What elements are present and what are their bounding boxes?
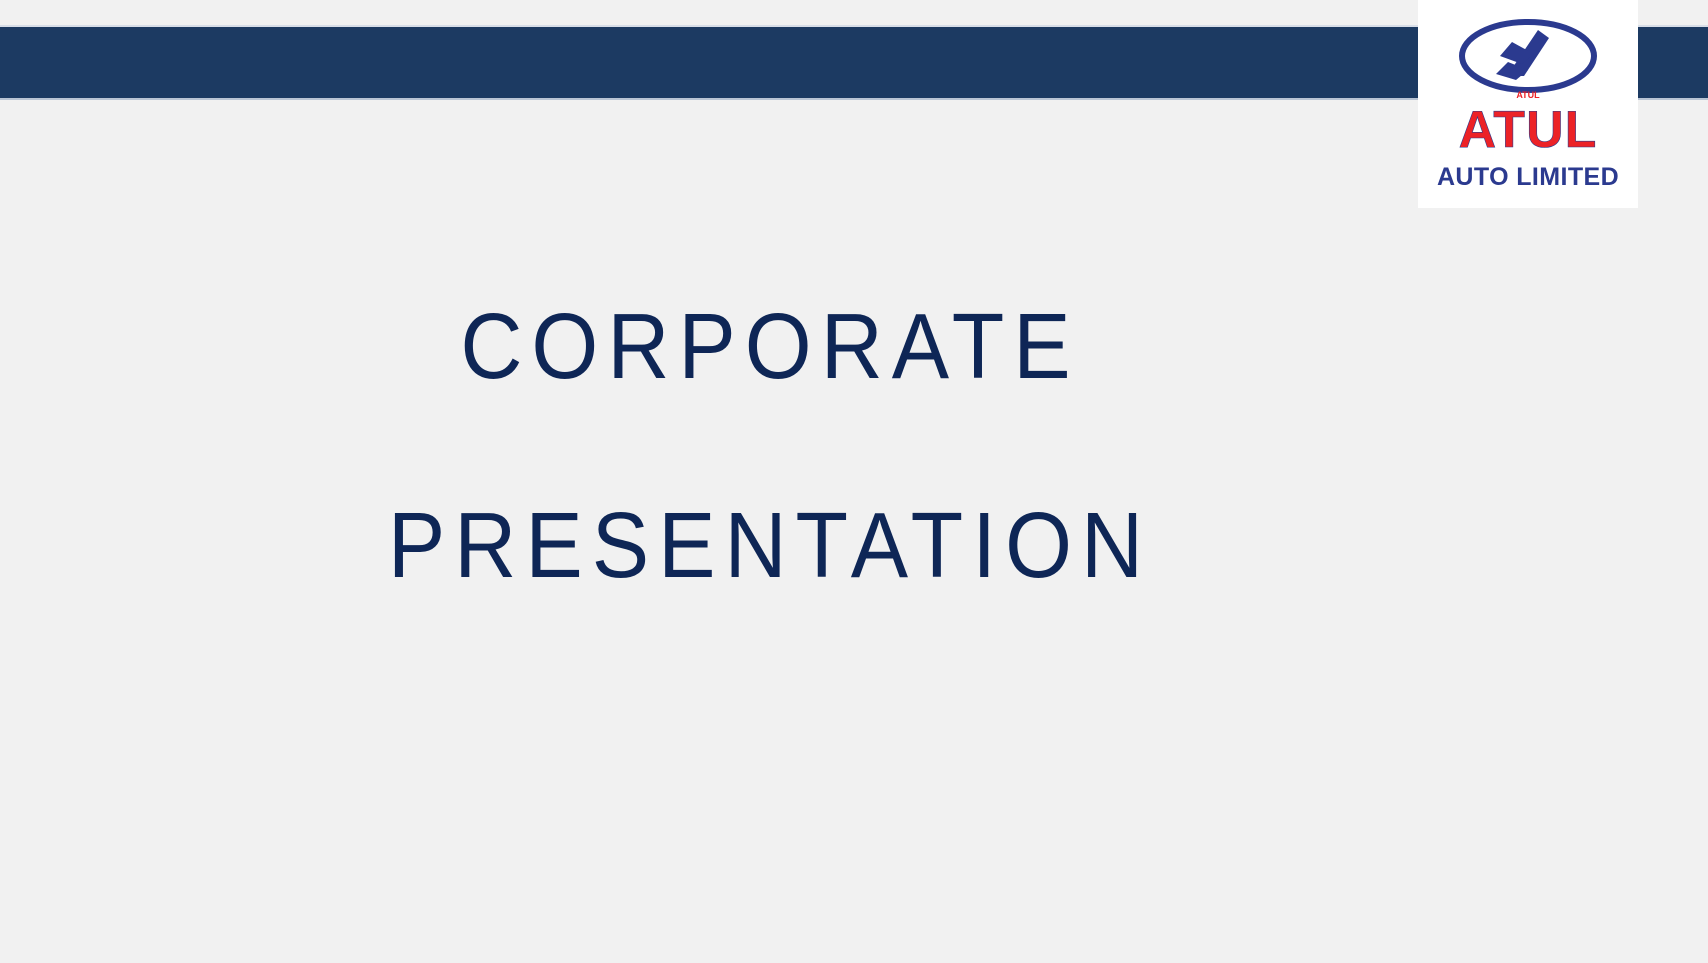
logo-wordmark: ATUL <box>1459 104 1598 156</box>
svg-text:ATUL: ATUL <box>1516 90 1540 100</box>
company-logo-plate: ATUL ATUL AUTO LIMITED <box>1418 0 1638 208</box>
slide-title-block: CORPORATE PRESENTATION <box>0 300 1540 585</box>
slide-title-line-2: PRESENTATION <box>0 499 1540 592</box>
logo-subwordmark: AUTO LIMITED <box>1437 165 1619 190</box>
presentation-slide: ATUL ATUL AUTO LIMITED CORPORATE PRESENT… <box>0 0 1708 963</box>
slide-title-line-1: CORPORATE <box>0 300 1540 393</box>
atul-oval-monogram-emblem: ATUL <box>1452 16 1604 102</box>
